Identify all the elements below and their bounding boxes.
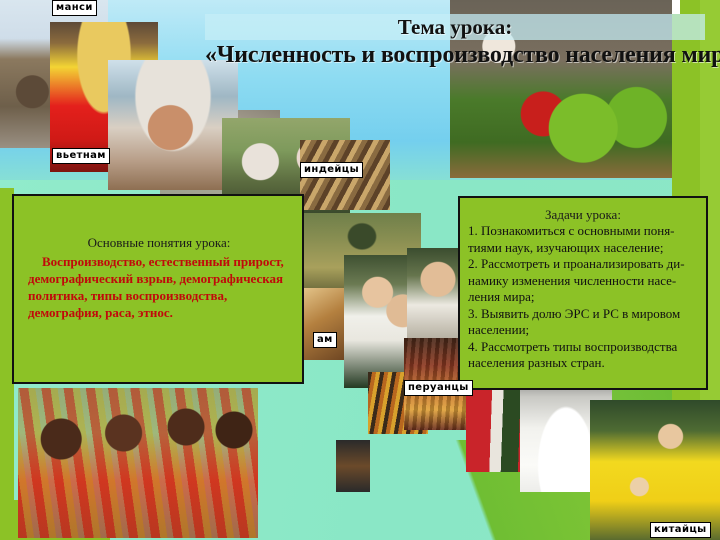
concepts-heading: Основные понятия урока: xyxy=(28,234,290,251)
task-line: населении; xyxy=(468,322,698,339)
task-line: тиями наук, изучающих население; xyxy=(468,240,698,257)
task-line: населения разных стран. xyxy=(468,355,698,372)
task-item: 3. Выявить долю ЭРС и РС в мировом насел… xyxy=(468,306,698,339)
concepts-list: Воспроизводство, естественный прирост,де… xyxy=(28,253,290,321)
concepts-line: демографический взрыв, демографическая xyxy=(28,270,290,287)
task-line: 3. Выявить долю ЭРС и РС в мировом xyxy=(468,306,698,323)
photo-label-peruvians: перуанцы xyxy=(404,380,473,396)
concepts-line: Воспроизводство, естественный прирост, xyxy=(28,253,290,270)
task-line: намику изменения численности насе- xyxy=(468,273,698,290)
photo-label-mansi: манси xyxy=(52,0,97,16)
tasks-heading: Задачи урока: xyxy=(468,206,698,223)
task-line: 1. Познакомиться с основными поня- xyxy=(468,223,698,240)
title-line-2: «Численность и воспроизводство населения… xyxy=(205,40,705,70)
tasks-textbox: Задачи урока: 1. Познакомиться с основны… xyxy=(458,196,708,390)
task-line: 4. Рассмотреть типы воспроизводства xyxy=(468,339,698,356)
photo-label-americans: ам xyxy=(313,332,337,348)
photo-horse-rider: ам xyxy=(297,288,347,360)
photo-african-dancers xyxy=(18,388,258,538)
photo-indian-headdress: индейцы xyxy=(300,140,390,210)
photo-label-vietnamese: вьетнам xyxy=(52,148,110,164)
concepts-line: демография, раса, этнос. xyxy=(28,304,290,321)
task-line: ления мира; xyxy=(468,289,698,306)
title-line-1: Тема урока: xyxy=(205,14,705,40)
photo-label-indians: индейцы xyxy=(300,162,363,178)
concepts-textbox: Основные понятия урока: Воспроизводство,… xyxy=(12,194,304,384)
photo-folk-costume-small xyxy=(336,440,370,492)
green-left-strip-lower xyxy=(0,370,14,510)
task-item: 2. Рассмотреть и проанализировать ди- на… xyxy=(468,256,698,306)
task-item: 4. Рассмотреть типы воспроизводстванасел… xyxy=(468,339,698,372)
photo-label-chinese: китайцы xyxy=(650,522,711,538)
concepts-line: политика, типы воспроизводства, xyxy=(28,287,290,304)
photo-chinese: китайцы xyxy=(590,400,720,540)
tasks-list: 1. Познакомиться с основными поня-тиями … xyxy=(468,223,698,372)
task-line: 2. Рассмотреть и проанализировать ди- xyxy=(468,256,698,273)
page-title: Тема урока: «Численность и воспроизводст… xyxy=(205,14,705,70)
task-item: 1. Познакомиться с основными поня-тиями … xyxy=(468,223,698,256)
slide-canvas: манси вьетнам индейцы ам перуанцы китайц… xyxy=(0,0,720,540)
photo-nenets-woman xyxy=(108,60,238,190)
